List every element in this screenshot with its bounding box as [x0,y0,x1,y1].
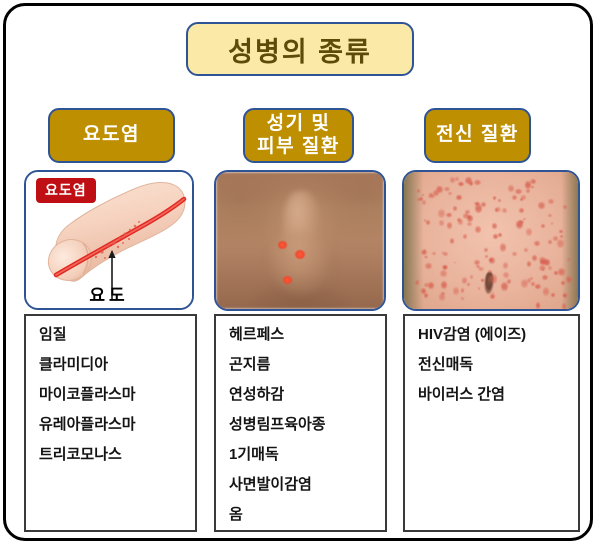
rash-macule [465,210,470,215]
list-item: 옴 [229,507,385,522]
rash-macule [470,275,473,279]
rash-macule [425,263,432,269]
list-item: 트리코모나스 [39,447,195,462]
rash-macule [458,182,464,186]
rash-macule [467,283,470,286]
rash-macule [531,186,534,188]
rash-macule [463,234,467,239]
torso-rash-photo [404,172,578,309]
rash-macule [456,195,462,200]
list-item: 성병림프육아종 [229,417,385,432]
rash-macule [441,281,447,289]
rash-macule [454,262,456,264]
rash-macule [502,208,508,214]
rash-macule [500,243,506,252]
rash-macule [417,189,420,193]
rash-macule [493,234,498,240]
category-header-urethritis: 요도염 [48,108,175,163]
rash-macule [443,252,448,256]
rash-macule [444,187,450,191]
rash-macule [438,209,446,218]
rash-macule [566,276,572,283]
rash-macule [526,189,530,194]
list-item: 연성하감 [229,387,385,402]
rash-macule [548,240,551,244]
rash-macule [450,177,455,184]
rash-macule [453,287,459,295]
rash-macule [467,222,473,226]
category-header-systemic: 전신 질환 [424,108,531,163]
rash-macule [512,252,517,256]
list-item: HIV감염 (에이즈) [418,327,578,342]
photo-right-shadow [562,172,578,309]
rash-macule [551,293,555,297]
rash-macule [515,189,522,194]
rash-macule [442,265,448,269]
category-header-label: 요도염 [83,124,140,146]
list-item: 사면발이감염 [229,477,385,492]
page-title: 성병의 종류 [228,30,372,69]
rash-macule [501,282,508,292]
rash-macule [539,265,546,271]
rash-macule [520,198,523,201]
rash-macule [481,279,484,281]
rash-macule [474,180,481,185]
rash-macule [551,222,553,225]
rash-macule [440,270,447,277]
list-item: 유레아플라스마 [39,417,195,432]
list-item: 전신매독 [418,357,578,372]
rash-macule [448,192,452,195]
image-panel-systemic [402,170,580,311]
rash-macule [503,262,508,269]
rash-macule [474,260,481,264]
rash-macule [436,186,443,194]
rash-macule [536,302,541,308]
rash-macule [562,303,567,310]
rash-macule [542,275,548,280]
lesion-spot [278,241,287,249]
rash-macule [446,213,452,217]
urethritis-callout-label: 요도염 [36,178,96,203]
rash-macule [534,241,540,246]
list-item: 1기매독 [229,447,385,462]
category-header-genital-skin: 성기 및 피부 질환 [243,108,354,163]
list-item: 임질 [39,327,195,342]
list-item: 바이러스 간염 [418,387,578,402]
rash-macule [492,223,496,229]
rash-macule [485,255,488,258]
rash-macule [541,224,546,228]
photo-left-shadow [404,172,423,309]
rash-macule [503,272,509,278]
rash-macule [455,177,458,181]
rash-macule [519,220,524,224]
rash-macule [490,294,495,300]
rash-macule [461,288,464,293]
image-panel-genital-skin [214,170,386,311]
rash-macule [548,214,553,217]
rash-macule [416,280,418,282]
disease-list-urethritis: 임질클라미디아마이코플라스마유레아플라스마트리코모나스 [24,314,197,532]
rash-macule [461,297,464,300]
rash-macule [484,248,488,252]
list-item: 곤지름 [229,357,385,372]
rash-macule [475,226,481,233]
rash-macule [527,261,531,266]
rash-macule [538,202,544,208]
list-item: 마이코플라스마 [39,387,195,402]
rash-macule [447,222,453,229]
poster-title-box: 성병의 종류 [186,22,414,76]
list-item: 헤르페스 [229,327,385,342]
rash-macule [422,200,426,205]
rash-macule [493,196,496,200]
rash-macule [429,193,433,196]
rash-macule [507,279,511,284]
rash-macule [424,293,428,298]
poster-root: 성병의 종류 요도염 성기 및 피부 질환 전신 질환 [0,0,602,554]
rash-macule [530,277,533,280]
rash-macule [498,199,501,202]
rash-macule [450,238,454,244]
rash-macule [441,292,445,295]
rash-macule [421,288,426,294]
rash-macule [523,218,526,220]
rash-macule [469,181,474,187]
rash-macule [426,220,430,225]
rash-macule [526,228,532,236]
lesion-spot [295,250,305,259]
rash-macule [453,206,457,211]
rash-macule [559,230,563,234]
rash-macule [508,185,514,192]
rash-macule [432,252,436,255]
rash-macule [543,287,550,296]
anatomy-illustration: 요도염 요도 [26,172,192,308]
image-panel-urethritis: 요도염 요도 [24,170,194,310]
rash-macule [558,268,565,276]
rash-macule [548,199,554,204]
rash-macule [478,287,480,290]
rash-macule [525,181,531,189]
rash-macule [495,207,500,212]
rash-macule [422,194,424,196]
rash-macule [535,284,541,289]
list-item: 클라미디아 [39,357,195,372]
rash-macule [548,266,551,270]
rash-macule [490,274,497,284]
rash-macule [478,267,484,271]
rash-macule [524,248,528,252]
rash-macule [519,208,525,213]
rash-macule [481,202,486,207]
disease-list-genital-skin: 헤르페스곤지름연성하감성병림프육아종1기매독사면발이감염옴 [214,314,387,532]
rash-macule [532,255,537,261]
rash-macule [467,215,473,221]
rash-macule [417,198,421,201]
rash-macule [419,197,423,201]
rash-macule [498,233,502,237]
rash-macule [423,249,426,253]
rash-macule [489,257,495,263]
category-header-label: 성기 및 피부 질환 [257,113,340,158]
rash-macule [439,220,444,226]
rash-macule [567,258,571,261]
rash-macule [428,282,433,289]
rash-macule [533,180,535,183]
disease-list-systemic: HIV감염 (에이즈)전신매독바이러스 간염 [403,314,580,532]
category-header-label: 전신 질환 [436,124,519,146]
urethra-pointer-label: 요도 [26,281,192,306]
rash-macule [424,256,427,258]
rash-macule [512,195,517,200]
